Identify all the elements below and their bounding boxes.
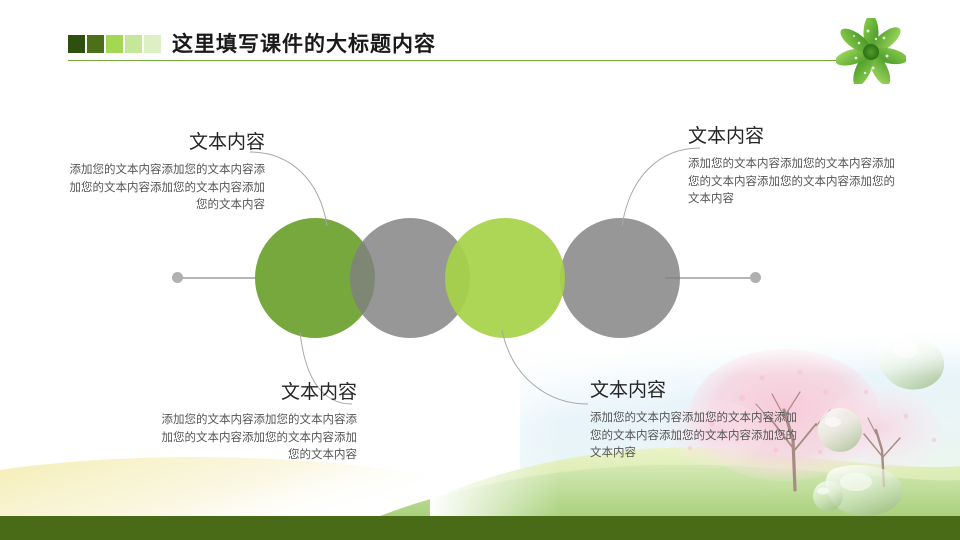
slide-canvas: 这里填写课件的大标题内容	[0, 0, 960, 540]
header-divider	[68, 60, 858, 61]
text-block-body: 添加您的文本内容添加您的文本内容添加您的文本内容添加您的文本内容添加您的文本内容	[590, 410, 800, 463]
text-block-heading: 文本内容	[590, 380, 800, 403]
connector-bottom-right	[502, 330, 588, 404]
field-glow	[0, 457, 470, 516]
text-block-body: 添加您的文本内容添加您的文本内容添加您的文本内容添加您的文本内容添加您的文本内容	[60, 162, 265, 215]
text-block-body: 添加您的文本内容添加您的文本内容添加您的文本内容添加您的文本内容添加您的文本内容	[152, 412, 357, 465]
text-block-top-left: 文本内容 添加您的文本内容添加您的文本内容添加您的文本内容添加您的文本内容添加您…	[60, 132, 265, 215]
water-droplets	[813, 335, 944, 516]
text-block-body: 添加您的文本内容添加您的文本内容添加您的文本内容添加您的文本内容添加您的文本内容	[688, 156, 898, 209]
text-block-top-right: 文本内容 添加您的文本内容添加您的文本内容添加您的文本内容添加您的文本内容添加您…	[688, 126, 898, 209]
axis-endpoint-right	[750, 272, 761, 283]
header-square-2	[87, 35, 104, 53]
text-block-bottom-left: 文本内容 添加您的文本内容添加您的文本内容添加您的文本内容添加您的文本内容添加您…	[152, 382, 357, 465]
header-square-1	[68, 35, 85, 53]
header-square-4	[125, 35, 142, 53]
diagram-circle-3[interactable]	[445, 218, 565, 338]
hill-near	[380, 465, 960, 516]
text-block-bottom-right: 文本内容 添加您的文本内容添加您的文本内容添加您的文本内容添加您的文本内容添加您…	[590, 380, 800, 463]
axis-endpoint-left	[172, 272, 183, 283]
blossom-canopy-right	[818, 388, 942, 476]
text-block-heading: 文本内容	[688, 126, 898, 149]
text-block-heading: 文本内容	[152, 382, 357, 405]
leaf-cluster-icon	[836, 18, 906, 84]
footer-bar	[0, 516, 960, 540]
header-color-squares	[68, 35, 161, 53]
text-block-heading: 文本内容	[60, 132, 265, 155]
diagram-circle-4[interactable]	[560, 218, 680, 338]
header-square-5	[144, 35, 161, 53]
page-title: 这里填写课件的大标题内容	[172, 28, 436, 58]
header-square-3	[106, 35, 123, 53]
